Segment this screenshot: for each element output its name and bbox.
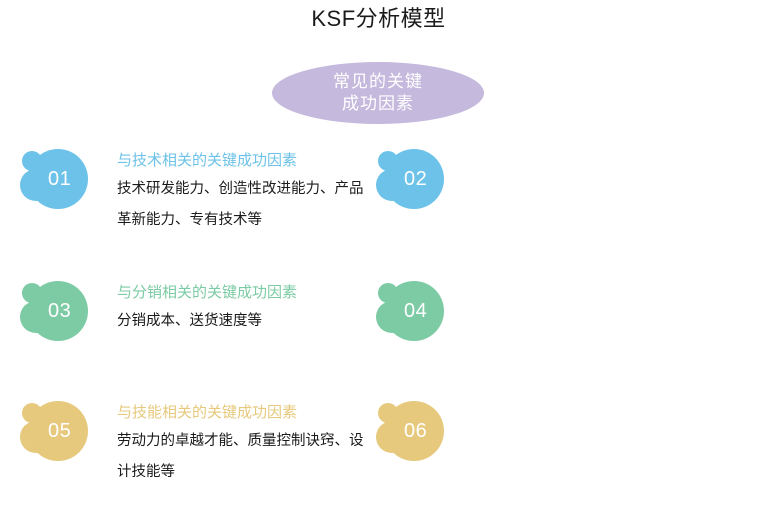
- ksf-item-body: 与技能相关的关键成功因素劳动力的卓越才能、质量控制诀窍、设计技能等: [117, 400, 369, 488]
- ksf-item-heading: 与分销相关的关键成功因素: [117, 280, 369, 306]
- ksf-item-description: 技术研发能力、创造性改进能力、产品革新能力、专有技术等: [117, 174, 369, 236]
- ksf-item-number: 04: [404, 298, 448, 324]
- ksf-item-number: 01: [48, 166, 92, 192]
- ksf-item-number: 02: [404, 166, 448, 192]
- common-key-success-factors-ellipse: 常见的关键 成功因素: [272, 62, 484, 124]
- ksf-item-heading: 与技术相关的关键成功因素: [117, 148, 369, 174]
- ksf-item-body: 与分销相关的关键成功因素分销成本、送货速度等: [117, 280, 369, 337]
- hero-line-1: 常见的关键: [333, 71, 423, 93]
- ksf-item-description: 分销成本、送货速度等: [117, 306, 369, 337]
- ksf-item-description: 劳动力的卓越才能、质量控制诀窍、设计技能等: [117, 426, 369, 488]
- ksf-item-number: 03: [48, 298, 92, 324]
- ksf-item-heading: 与技能相关的关键成功因素: [117, 400, 369, 426]
- hero-line-2: 成功因素: [342, 93, 414, 115]
- ksf-item-number: 06: [404, 418, 448, 444]
- ksf-item-body: 与技术相关的关键成功因素技术研发能力、创造性改进能力、产品革新能力、专有技术等: [117, 148, 369, 236]
- page-title: KSF分析模型: [0, 4, 757, 34]
- ksf-item-number: 05: [48, 418, 92, 444]
